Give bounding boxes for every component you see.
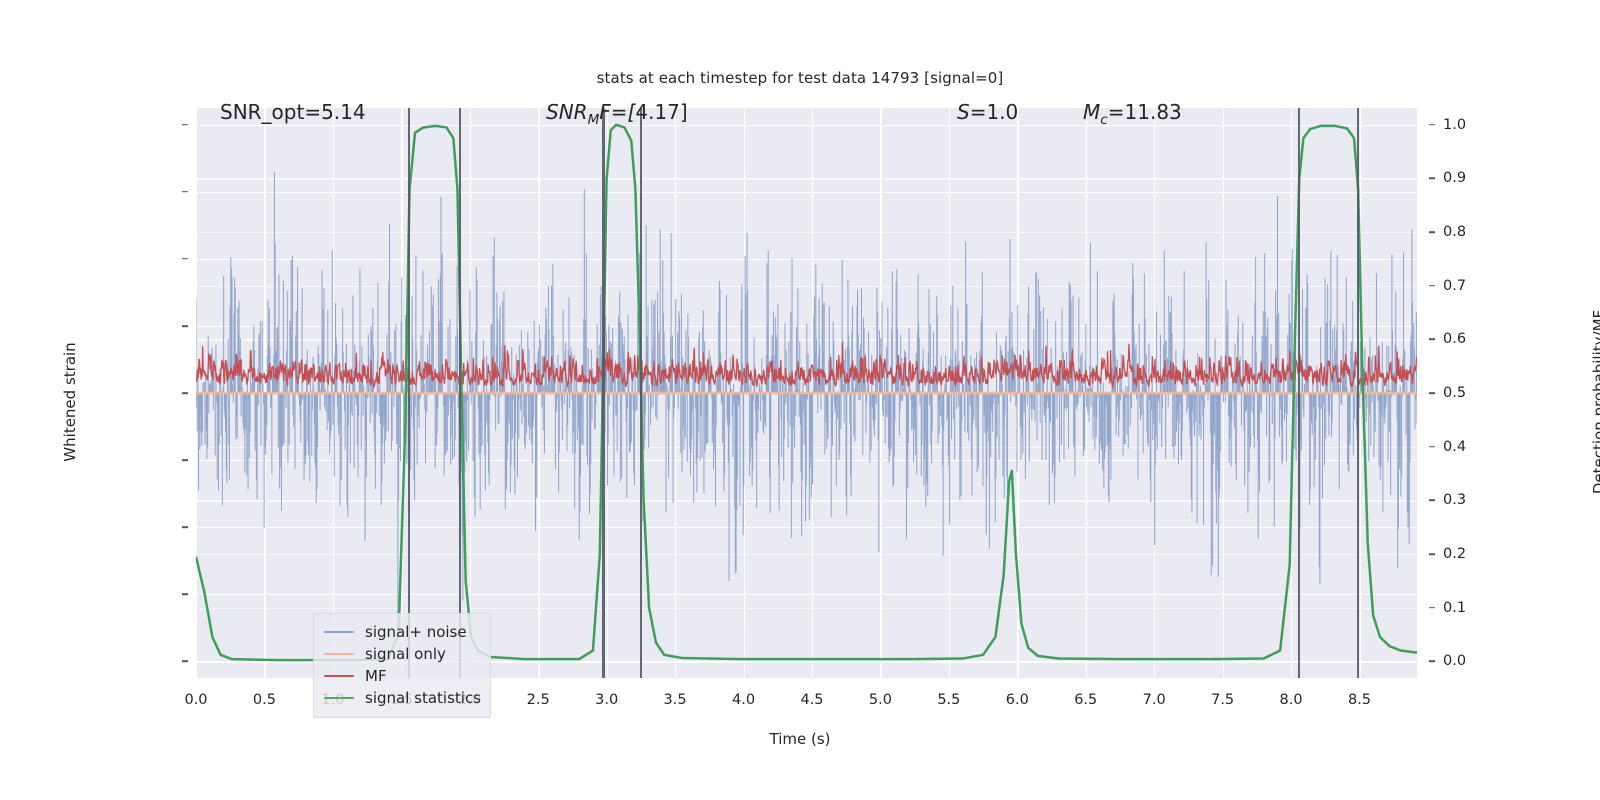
y-tick-right-2: 0.8 <box>1443 224 1466 240</box>
legend-label: signal only <box>365 645 446 663</box>
tickmark-left <box>182 392 188 394</box>
x-tick-7: 3.5 <box>664 692 687 708</box>
tickmark-right <box>1429 285 1435 287</box>
tickmark-left <box>182 325 188 327</box>
legend-label: MF <box>365 667 387 685</box>
annotation-snr-mf: SNRMF=[4.17] <box>546 100 688 128</box>
event-marker-2 <box>602 108 604 678</box>
plot-area <box>196 108 1417 678</box>
page-title: stats at each timestep for test data 147… <box>0 69 1600 87</box>
event-marker-4 <box>1298 108 1300 678</box>
x-axis-label: Time (s) <box>0 730 1600 748</box>
event-marker-0 <box>408 108 410 678</box>
x-tick-8: 4.0 <box>732 692 755 708</box>
legend-item-3[interactable]: signal statistics <box>324 687 480 709</box>
legend-swatch-icon <box>324 697 354 699</box>
legend: signal+ noisesignal onlyMFsignal statist… <box>313 613 491 718</box>
x-tick-11: 5.5 <box>937 692 960 708</box>
x-tick-13: 6.5 <box>1074 692 1097 708</box>
y-tick-right-1: 0.9 <box>1443 170 1466 186</box>
legend-swatch-icon <box>324 631 354 633</box>
legend-label: signal+ noise <box>365 623 467 641</box>
legend-label: signal statistics <box>365 689 481 707</box>
y-axis-label-right: Detection probability/MF <box>1590 272 1600 532</box>
tickmark-left <box>182 258 188 260</box>
legend-item-2[interactable]: MF <box>324 665 480 687</box>
y-axis-label-left: Whitened strain <box>61 292 79 512</box>
event-markers <box>196 108 1417 678</box>
tickmark-left <box>182 593 188 595</box>
x-tick-12: 6.0 <box>1006 692 1029 708</box>
y-tick-right-5: 0.5 <box>1443 385 1466 401</box>
x-tick-5: 2.5 <box>527 692 550 708</box>
figure-canvas: stats at each timestep for test data 147… <box>0 0 1600 800</box>
tickmark-right <box>1429 124 1435 126</box>
x-tick-1: 0.5 <box>253 692 276 708</box>
tickmark-right <box>1429 553 1435 555</box>
annotation-snr-opt: SNR_opt=5.14 <box>220 100 366 124</box>
x-tick-6: 3.0 <box>595 692 618 708</box>
event-marker-5 <box>1357 108 1359 678</box>
annotation-s-stat: S=1.0 <box>957 100 1018 124</box>
event-marker-3 <box>640 108 642 678</box>
y-tick-right-0: 1.0 <box>1443 117 1466 133</box>
y-tick-right-10: 0.0 <box>1443 653 1466 669</box>
tickmark-left <box>182 124 188 126</box>
tickmark-right <box>1429 178 1435 180</box>
tickmark-right <box>1429 446 1435 448</box>
legend-swatch-icon <box>324 653 354 655</box>
x-tick-15: 7.5 <box>1211 692 1234 708</box>
tickmark-left <box>182 526 188 528</box>
y-tick-right-8: 0.2 <box>1443 546 1466 562</box>
tickmark-right <box>1429 499 1435 501</box>
tickmark-left <box>182 191 188 193</box>
x-tick-0: 0.0 <box>184 692 207 708</box>
y-tick-right-6: 0.4 <box>1443 439 1466 455</box>
annotation-chirp-mass: Mc=11.83 <box>1083 100 1182 128</box>
event-marker-1 <box>459 108 461 678</box>
x-tick-9: 4.5 <box>800 692 823 708</box>
tickmark-right <box>1429 660 1435 662</box>
x-tick-17: 8.5 <box>1348 692 1371 708</box>
legend-item-0[interactable]: signal+ noise <box>324 621 480 643</box>
legend-item-1[interactable]: signal only <box>324 643 480 665</box>
tickmark-left <box>182 660 188 662</box>
y-tick-right-3: 0.7 <box>1443 278 1466 294</box>
x-tick-10: 5.0 <box>869 692 892 708</box>
tickmark-right <box>1429 231 1435 233</box>
x-tick-14: 7.0 <box>1143 692 1166 708</box>
tickmark-left <box>182 459 188 461</box>
tickmark-right <box>1429 339 1435 341</box>
tickmark-right <box>1429 607 1435 609</box>
y-tick-right-7: 0.3 <box>1443 492 1466 508</box>
y-tick-right-4: 0.6 <box>1443 331 1466 347</box>
tickmark-right <box>1429 392 1435 394</box>
legend-swatch-icon <box>324 675 354 677</box>
y-tick-right-9: 0.1 <box>1443 600 1466 616</box>
x-tick-16: 8.0 <box>1280 692 1303 708</box>
